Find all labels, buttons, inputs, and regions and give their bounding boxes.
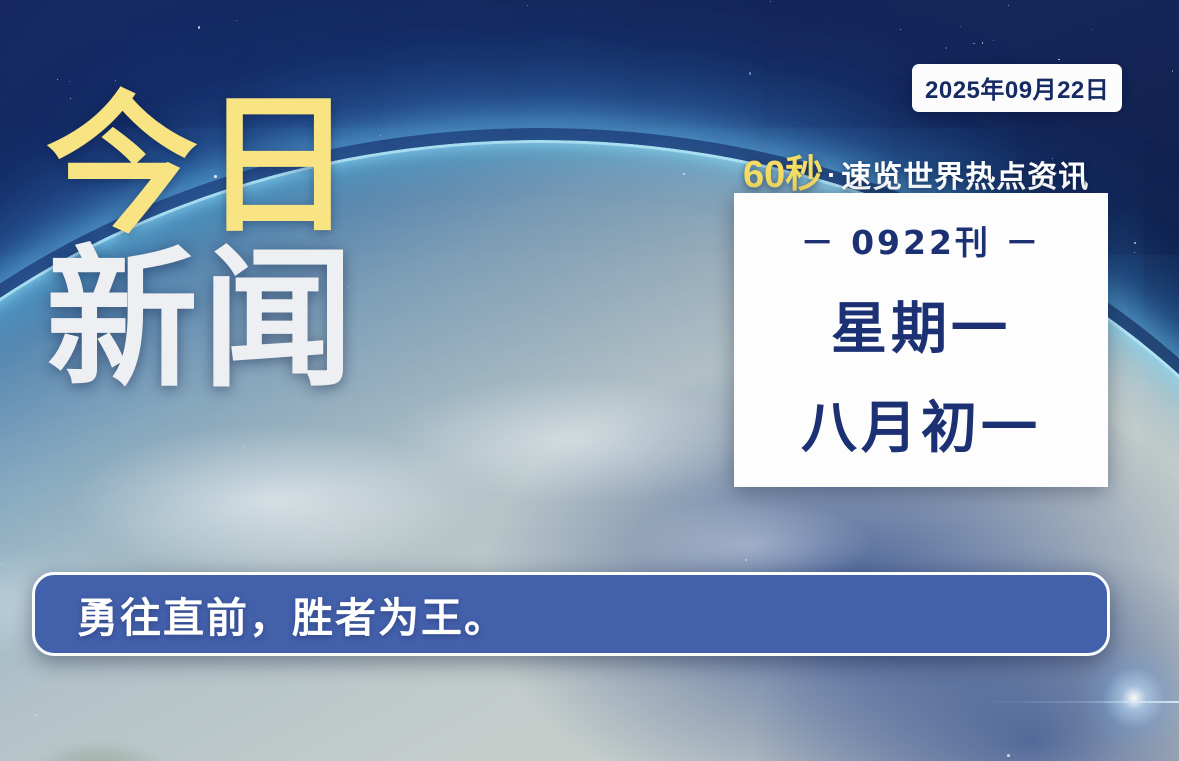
issue-info-card: － 0922刊 － 星期一 八月初一	[734, 193, 1108, 487]
date-badge: 2025年09月22日	[912, 64, 1122, 112]
title-line-news: 新闻	[46, 250, 466, 390]
title-line-today: 今日	[46, 96, 466, 236]
lunar-date-label: 八月初一	[801, 383, 1041, 464]
tagline-separator-dot: ·	[827, 160, 836, 190]
tagline: 60秒·速览世界热点资讯	[743, 143, 1089, 198]
tagline-description: 速览世界热点资讯	[841, 161, 1089, 194]
lens-flare-star	[1079, 643, 1179, 753]
news-poster: 今日 新闻 2025年09月22日 60秒·速览世界热点资讯 － 0922刊 －…	[0, 0, 1179, 761]
quote-text: 勇往直前，胜者为王。	[77, 584, 507, 644]
tagline-duration: 60秒	[743, 154, 823, 196]
issue-number: － 0922刊 －	[801, 216, 1042, 264]
page-title: 今日 新闻	[46, 96, 466, 390]
weekday-label: 星期一	[831, 284, 1011, 365]
lens-flare-streak	[979, 701, 1179, 703]
quote-banner: 勇往直前，胜者为王。	[32, 572, 1110, 656]
